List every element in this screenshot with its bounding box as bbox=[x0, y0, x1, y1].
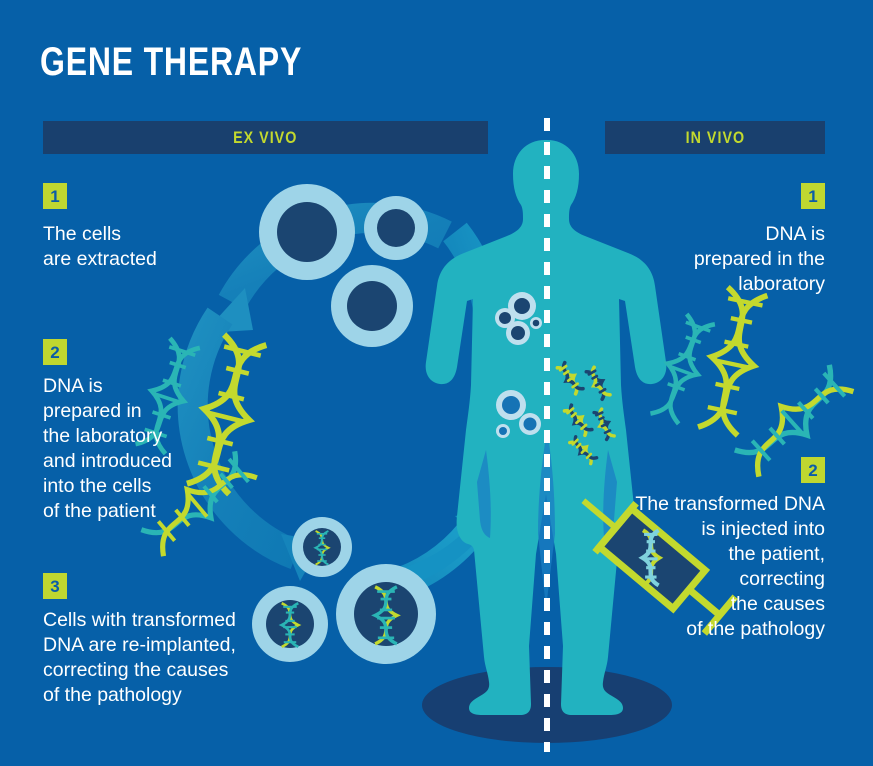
step-badge-in-2: 2 bbox=[801, 457, 825, 483]
section-label-ex-vivo: EX VIVO bbox=[233, 128, 297, 148]
step-text-ex-3: Cells with transformed DNA are re-implan… bbox=[43, 608, 303, 708]
step-badge-in-1: 1 bbox=[801, 183, 825, 209]
step-text-in-2: The transformed DNA is injected into the… bbox=[565, 492, 825, 642]
step-badge-ex-1: 1 bbox=[43, 183, 67, 209]
section-header-ex-vivo: EX VIVO bbox=[43, 121, 488, 154]
step-text-ex-2: DNA is prepared in the laboratory and in… bbox=[43, 374, 223, 524]
step-badge-ex-3: 3 bbox=[43, 573, 67, 599]
step-text-in-1: DNA is prepared in the laboratory bbox=[585, 222, 825, 297]
step-badge-ex-2: 2 bbox=[43, 339, 67, 365]
section-label-in-vivo: IN VIVO bbox=[685, 128, 744, 148]
page-title: GENE THERAPY bbox=[40, 40, 302, 84]
section-header-in-vivo: IN VIVO bbox=[605, 121, 825, 154]
step-text-ex-1: The cells are extracted bbox=[43, 222, 243, 272]
infographic-canvas: GENE THERAPY EX VIVO IN VIVO 1 The cells… bbox=[0, 0, 873, 766]
